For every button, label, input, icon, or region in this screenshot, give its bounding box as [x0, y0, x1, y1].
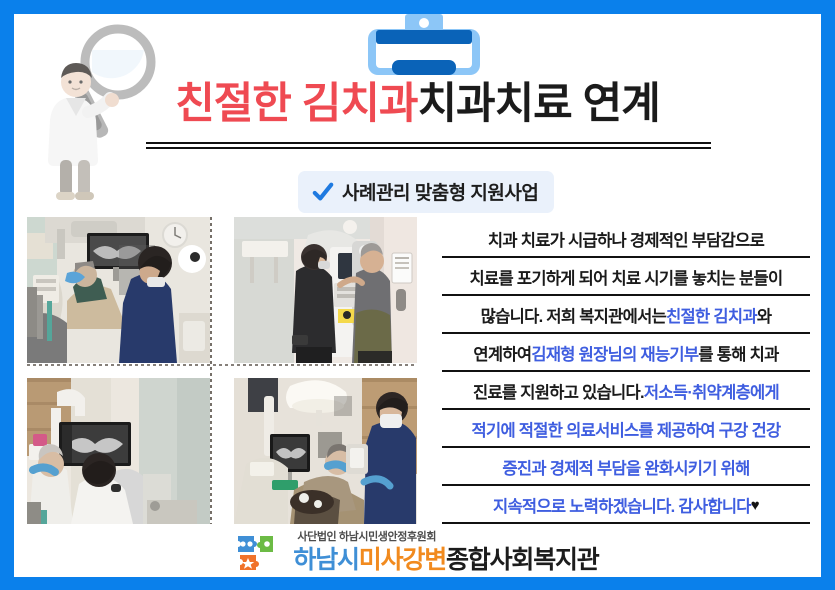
poster-root: 친절한 김치과치과치료 연계 사례관리 맞춤형 지원사업: [0, 0, 835, 590]
body-text-run: 와: [757, 303, 771, 327]
body-text-run: 증진과 경제적 부담을 완화시키기 위해: [502, 455, 749, 479]
page-title-black: 치과치료 연계: [418, 82, 660, 127]
photo-grid-divider-vertical: [210, 217, 212, 524]
photo-grid: [27, 217, 417, 524]
body-text-line: 치료를 포기하게 되어 치료 시기를 놓치는 분들이: [442, 258, 810, 296]
body-text-run: 지속적으로 노력하겠습니다. 감사합니다: [493, 493, 751, 517]
puzzle-logo-icon: [236, 533, 282, 573]
page-title: 친절한 김치과치과치료 연계: [14, 82, 821, 127]
body-text-line: 진료를 지원하고 있습니다. 저소득·취약계층에게: [442, 372, 810, 410]
body-text-run: 치과 치료가 시급하나 경제적인 부담감으로: [488, 227, 764, 251]
footer-logo-sub: 사단법인 하남시민생안정후원회: [297, 532, 598, 543]
body-text-run: 치료를 포기하게 되어 치료 시기를 놓치는 분들이: [470, 265, 783, 289]
body-text-run: 연계하여: [473, 341, 531, 365]
footer-logo-text: 사단법인 하남시민생안정후원회 하남시미사강변종합사회복지관: [293, 532, 598, 573]
body-text-run: 많습니다. 저희 복지관에서는: [481, 303, 666, 327]
body-text-line: 연계하여 김재형 원장님의 재능기부를 통해 치과: [442, 334, 810, 372]
footer-logo: 사단법인 하남시민생안정후원회 하남시미사강변종합사회복지관: [14, 532, 821, 573]
status-badge: 사례관리 맞춤형 지원사업: [298, 171, 554, 213]
body-text-run: 김재형 원장님의 재능기부: [531, 341, 698, 365]
footer-name-blue: 하남시: [293, 546, 358, 574]
heart-icon: ♥: [751, 497, 759, 514]
body-text-run: 를 통해 치과: [698, 341, 778, 365]
photo-grid-divider-horizontal: [27, 364, 417, 366]
dental-tray-icon: [354, 14, 494, 78]
body-text-line: 적기에 적절한 의료서비스를 제공하여 구강 건강: [442, 410, 810, 448]
body-text-line: 많습니다. 저희 복지관에서는 친절한 김치과와: [442, 296, 810, 334]
photo-dentist-with-patient: [234, 378, 417, 524]
check-mark-icon: [312, 181, 334, 203]
footer-name-orange: 미사강변: [359, 546, 446, 574]
footer-name-black: 종합사회복지관: [446, 546, 599, 574]
footer-logo-main: 하남시미사강변종합사회복지관: [293, 548, 598, 573]
photo-xray-monitor-consult: [27, 378, 210, 524]
body-text-line: 치과 치료가 시급하나 경제적인 부담감으로: [442, 220, 810, 258]
body-text-run: 저소득·취약계층에게: [644, 379, 779, 403]
body-text-run: 적기에 적절한 의료서비스를 제공하여 구강 건강: [471, 417, 780, 441]
photo-dental-chair-treatment: [27, 217, 210, 363]
page-title-red: 친절한 김치과: [175, 82, 417, 127]
body-text-line: 지속적으로 노력하겠습니다. 감사합니다 ♥: [442, 486, 810, 524]
photo-panoramic-xray-room: [234, 217, 417, 363]
title-double-rule: [146, 142, 711, 149]
body-text-block: 치과 치료가 시급하나 경제적인 부담감으로 치료를 포기하게 되어 치료 시기…: [442, 220, 810, 524]
body-text-run: 진료를 지원하고 있습니다.: [473, 379, 644, 403]
body-text-run: 친절한 김치과: [666, 303, 757, 327]
status-badge-label: 사례관리 맞춤형 지원사업: [342, 178, 538, 205]
poster-canvas: 친절한 김치과치과치료 연계 사례관리 맞춤형 지원사업: [14, 14, 821, 577]
body-text-line: 증진과 경제적 부담을 완화시키기 위해: [442, 448, 810, 486]
